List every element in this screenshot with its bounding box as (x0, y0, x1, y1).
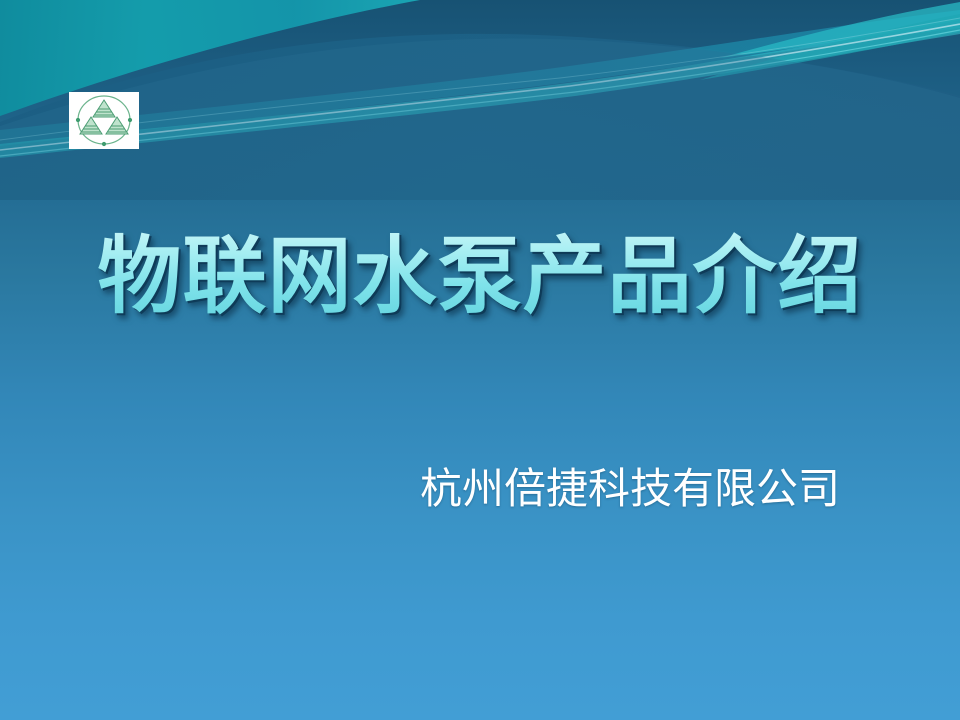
slide-subtitle: 杭州倍捷科技有限公司 (360, 462, 900, 516)
slide-title: 物联网水泵产品介绍 (60, 222, 900, 330)
pyramids-in-circle-icon (69, 92, 139, 149)
company-logo (69, 92, 139, 149)
top-wave-decoration (0, 0, 960, 200)
presentation-slide: 物联网水泵产品介绍 杭州倍捷科技有限公司 (0, 0, 960, 720)
